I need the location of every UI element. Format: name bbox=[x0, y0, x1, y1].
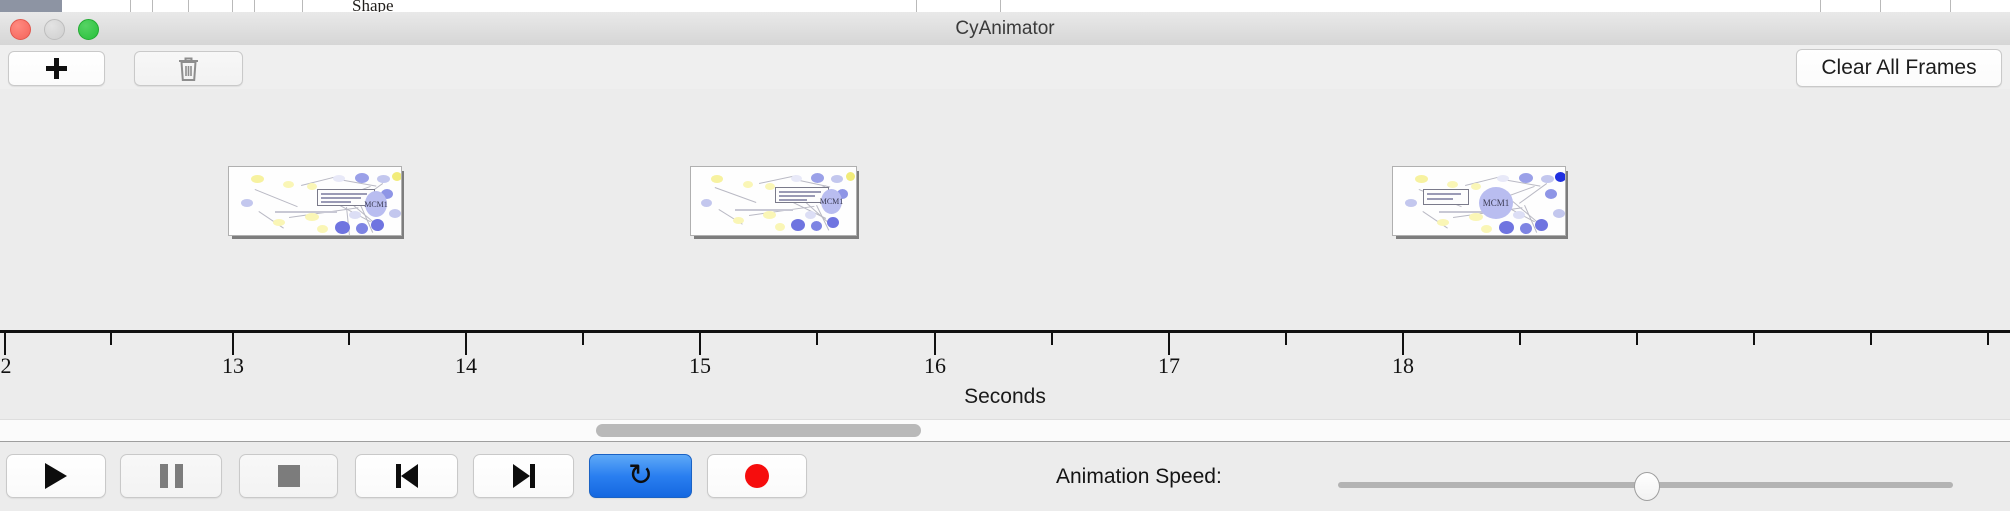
background-titlebar-fragment bbox=[0, 0, 62, 12]
frame-thumbnail-2[interactable]: MCM1 bbox=[690, 166, 855, 234]
background-window-label: Shape bbox=[352, 0, 394, 12]
network-annotation bbox=[1423, 189, 1469, 205]
trash-icon bbox=[177, 56, 200, 82]
axis-tick-label: 18 bbox=[1392, 353, 1414, 379]
time-axis-line bbox=[0, 330, 2010, 333]
play-button[interactable] bbox=[6, 454, 106, 498]
skip-to-start-button[interactable] bbox=[355, 454, 458, 498]
network-thumbnail: MCM1 bbox=[228, 166, 402, 236]
network-thumbnail: MCM1 bbox=[690, 166, 857, 236]
clear-all-frames-button[interactable]: Clear All Frames bbox=[1796, 49, 2002, 87]
background-window-strip: Shape bbox=[0, 0, 2010, 12]
axis-tick-label: 14 bbox=[455, 353, 477, 379]
play-icon bbox=[45, 463, 67, 489]
record-icon bbox=[745, 464, 769, 488]
network-thumbnail: MCM1 bbox=[1392, 166, 1566, 236]
axis-title: Seconds bbox=[0, 385, 2010, 409]
network-hub-label: MCM1 bbox=[1479, 187, 1513, 219]
loop-icon: ↻ bbox=[628, 461, 653, 491]
horizontal-scrollbar[interactable] bbox=[0, 419, 2010, 442]
window-title: CyAnimator bbox=[0, 12, 2010, 45]
frame-thumbnail-1[interactable]: MCM1 bbox=[228, 166, 400, 234]
axis-tick-label: 15 bbox=[689, 353, 711, 379]
frame-thumbnail-3[interactable]: MCM1 bbox=[1392, 166, 1564, 234]
loop-button[interactable]: ↻ bbox=[589, 454, 692, 498]
skip-to-end-button[interactable] bbox=[473, 454, 574, 498]
axis-tick-label: 16 bbox=[924, 353, 946, 379]
axis-tick-label: 13 bbox=[222, 353, 244, 379]
plus-icon bbox=[46, 58, 67, 79]
scrollbar-thumb[interactable] bbox=[596, 424, 921, 437]
animation-speed-label: Animation Speed: bbox=[1056, 465, 1222, 489]
axis-tick-label: 2 bbox=[1, 353, 12, 379]
title-bar: CyAnimator bbox=[0, 12, 2010, 46]
axis-tick-label: 17 bbox=[1158, 353, 1180, 379]
pause-button[interactable] bbox=[120, 454, 222, 498]
pause-icon bbox=[160, 464, 183, 488]
record-button[interactable] bbox=[707, 454, 807, 498]
timeline-panel[interactable]: MCM1 bbox=[0, 89, 2010, 419]
transport-bar: ↻ Animation Speed: bbox=[0, 441, 2010, 511]
skip-backward-icon bbox=[396, 464, 418, 488]
stop-button[interactable] bbox=[239, 454, 338, 498]
animation-speed-slider-thumb[interactable] bbox=[1634, 472, 1660, 501]
skip-forward-icon bbox=[513, 464, 535, 488]
stop-icon bbox=[278, 465, 300, 487]
delete-frame-button[interactable] bbox=[134, 51, 243, 86]
cyanimator-window: Shape CyAnimator Clear All Frames bbox=[0, 0, 2010, 510]
toolbar: Clear All Frames bbox=[0, 45, 2010, 90]
add-frame-button[interactable] bbox=[8, 51, 105, 86]
